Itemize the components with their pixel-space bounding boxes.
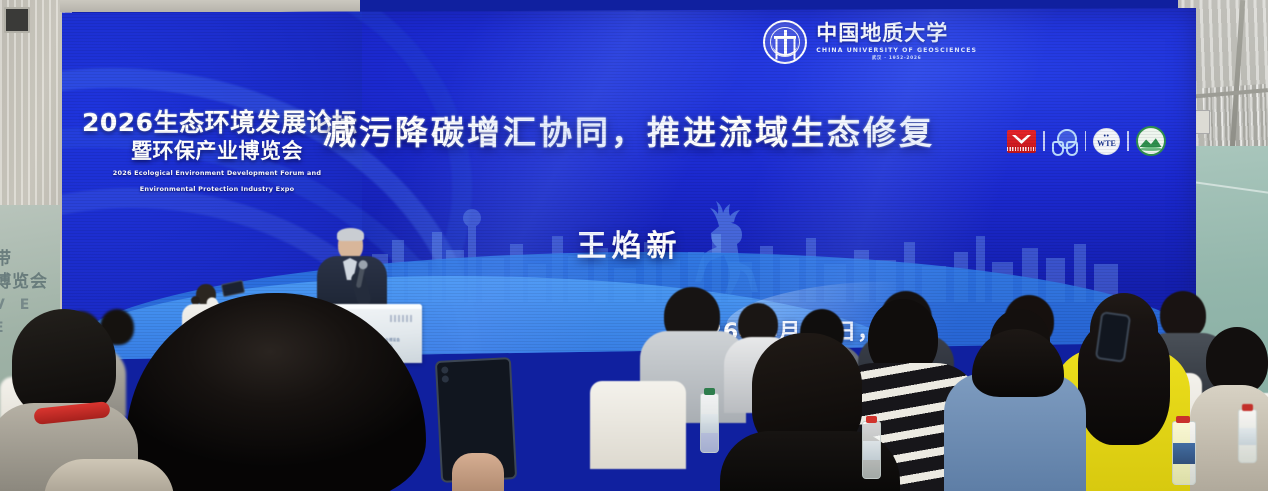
water-bottle <box>1238 409 1257 463</box>
conference-photo-scene: 带 博览会 V E E <box>0 0 1268 491</box>
bottle-cap <box>866 416 877 423</box>
bottle-label <box>863 441 880 460</box>
water-bottle <box>1172 421 1196 485</box>
audience-hair <box>972 329 1064 397</box>
audience-body <box>44 459 174 491</box>
water-bottle <box>700 393 719 453</box>
audience-area <box>0 281 1268 491</box>
audience-head <box>1160 291 1206 339</box>
left-wall-line-1: 带 <box>0 248 56 271</box>
bottle-label <box>701 414 718 434</box>
audience-arm <box>452 453 504 491</box>
bottle-label <box>1173 443 1195 464</box>
water-bottle <box>862 421 881 479</box>
bottle-cap <box>1176 416 1190 423</box>
bottle-cap <box>1242 404 1253 411</box>
bottle-cap <box>704 388 715 395</box>
venue-ceiling-strip <box>60 0 360 12</box>
audience-head <box>12 309 116 417</box>
audience-head-foreground <box>126 293 426 491</box>
speaker-hair <box>337 228 364 241</box>
wall-vent-icon <box>4 7 30 33</box>
bottle-label <box>1239 428 1256 446</box>
chair-cover <box>590 381 686 469</box>
left-wall-ribbing <box>0 0 72 240</box>
phone-camera-icon <box>441 366 448 373</box>
